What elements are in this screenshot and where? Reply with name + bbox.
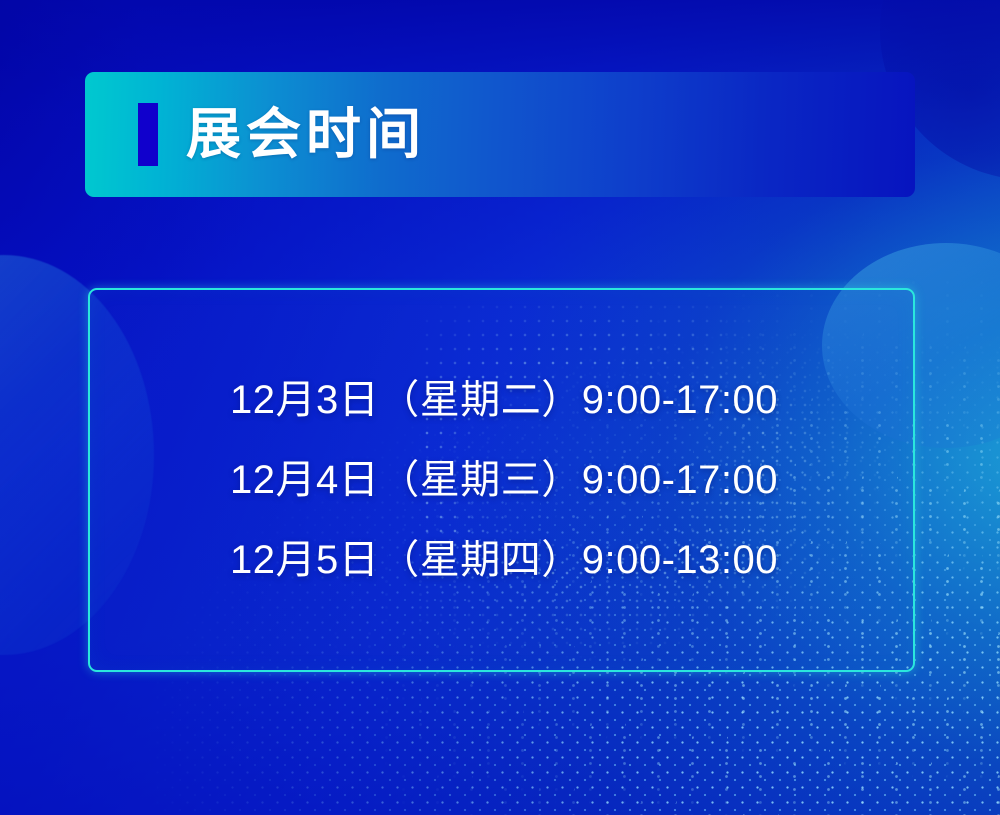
poster-canvas: 展会时间 12月3日（星期二）9:00-17:00 12月4日（星期三）9:00… [0, 0, 1000, 815]
schedule-line-3: 12月5日（星期四）9:00-13:00 [230, 520, 913, 600]
schedule-line-1: 12月3日（星期二）9:00-17:00 [230, 360, 913, 440]
header-banner: 展会时间 [85, 72, 915, 197]
page-title: 展会时间 [186, 107, 426, 162]
header-accent-bar [138, 103, 158, 166]
schedule-line-2: 12月4日（星期三）9:00-17:00 [230, 440, 913, 520]
schedule-frame: 12月3日（星期二）9:00-17:00 12月4日（星期三）9:00-17:0… [88, 288, 915, 672]
